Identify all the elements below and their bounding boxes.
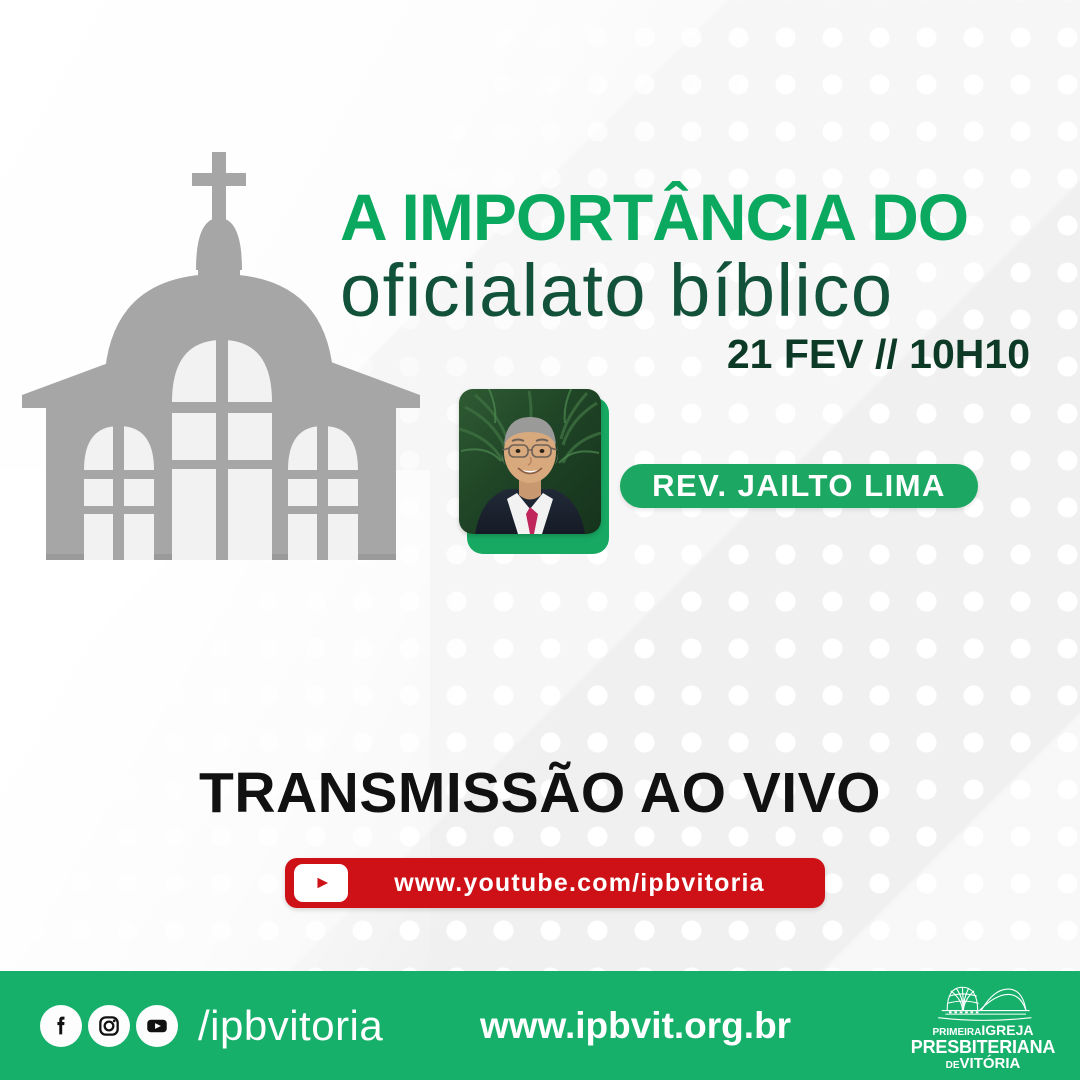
speaker-photo xyxy=(459,389,601,534)
brand-line-1: PRIMEIRAIGREJA xyxy=(908,1023,1058,1038)
speaker-name-banner: REV. JAILTO LIMA xyxy=(620,464,978,508)
instagram-icon[interactable] xyxy=(88,1005,130,1047)
church-brand-mark xyxy=(929,980,1037,1023)
speaker-name-label: REV. JAILTO LIMA xyxy=(652,468,946,504)
youtube-play-icon xyxy=(294,864,348,902)
website-url-label: www.ipbvit.org.br xyxy=(480,1005,791,1047)
speaker-photo-wrapper xyxy=(459,389,609,554)
live-broadcast-label: TRANSMISSÃO AO VIVO xyxy=(0,760,1080,826)
poster-canvas: A IMPORTÂNCIA DO oficialato bíblico 21 F… xyxy=(0,0,1080,1080)
social-handle-label: /ipbvitoria xyxy=(198,1002,383,1050)
brand-line-3: DEVITÓRIA xyxy=(908,1056,1058,1071)
brand-line-3-small: DE xyxy=(946,1060,960,1071)
event-datetime: 21 FEV // 10H10 xyxy=(340,331,1030,378)
brand-logo: PRIMEIRAIGREJA PRESBITERIANA DEVITÓRIA xyxy=(908,980,1058,1072)
social-icon-group: /ipbvitoria xyxy=(40,1002,383,1050)
brand-line-2: PRESBITERIANA xyxy=(908,1038,1058,1056)
youtube-url-text: www.youtube.com/ipbvitoria xyxy=(348,869,825,898)
youtube-link-bar[interactable]: www.youtube.com/ipbvitoria xyxy=(285,858,825,908)
headline-line-1: A IMPORTÂNCIA DO xyxy=(340,186,1030,249)
headline-line-2: oficialato bíblico xyxy=(340,253,1030,328)
facebook-icon[interactable] xyxy=(40,1005,82,1047)
brand-line-3-big: VITÓRIA xyxy=(960,1055,1021,1072)
footer-bar: /ipbvitoria www.ipbvit.org.br xyxy=(0,971,1080,1080)
brand-line-1-big: IGREJA xyxy=(981,1022,1033,1038)
headline-block: A IMPORTÂNCIA DO oficialato bíblico 21 F… xyxy=(340,186,1030,378)
youtube-icon[interactable] xyxy=(136,1005,178,1047)
